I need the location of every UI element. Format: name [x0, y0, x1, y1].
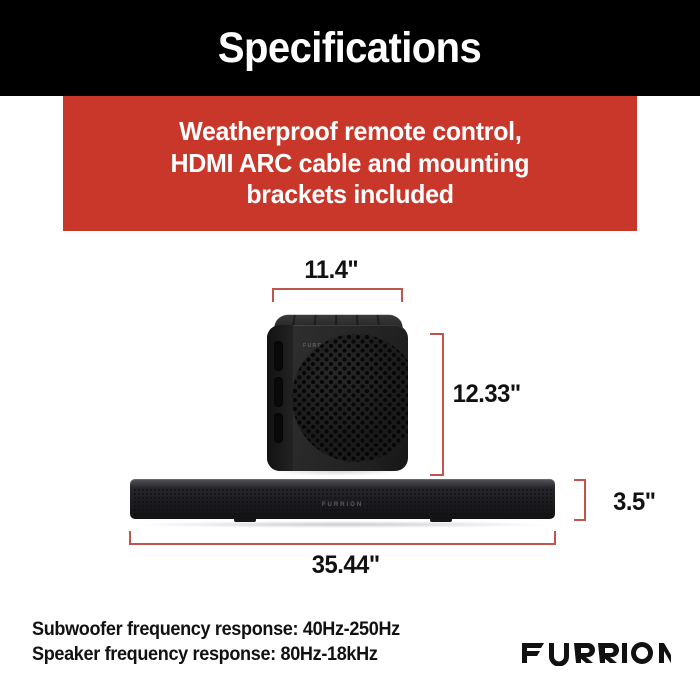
subwoofer-frequency-response: Subwoofer frequency response: 40Hz-250Hz: [32, 617, 400, 642]
frequency-response-specs: Subwoofer frequency response: 40Hz-250Hz…: [32, 617, 419, 667]
soundbar-brand-mark: FURRION: [322, 502, 363, 508]
subwoofer-vent-slot: [274, 413, 283, 443]
subwoofer-width-label: 11.4": [304, 256, 358, 285]
speaker-frequency-response: Speaker frequency response: 80Hz-18kHz: [32, 642, 400, 667]
subwoofer-speaker-grille: [292, 334, 408, 462]
subwoofer-vent-slot: [274, 341, 283, 371]
furrion-logo: [521, 640, 671, 666]
soundbar-width-label: 35.44": [312, 551, 380, 580]
subwoofer-product-image: FURRION: [267, 311, 408, 471]
feature-banner: Weatherproof remote control, HDMI ARC ca…: [63, 96, 637, 231]
soundbar-highlight: [130, 479, 555, 488]
subwoofer-width-bracket: [272, 288, 403, 302]
feature-banner-line-2: HDMI ARC cable and mounting: [171, 148, 530, 180]
subwoofer-height-label: 12.33": [453, 380, 521, 409]
soundbar-body: FURRION: [130, 479, 555, 519]
page-title: Specifications: [218, 27, 481, 70]
specifications-infographic: Specifications Weatherproof remote contr…: [0, 0, 700, 700]
feature-banner-line-1: Weatherproof remote control,: [179, 116, 521, 148]
soundbar-height-label: 3.5": [613, 488, 655, 517]
feature-banner-line-3: brackets included: [246, 179, 453, 211]
subwoofer-side-panel: [267, 325, 293, 471]
subwoofer-vent-slot: [274, 377, 283, 407]
soundbar-shadow: [136, 521, 549, 528]
title-band: Specifications: [0, 0, 700, 96]
soundbar-height-bracket: [574, 479, 586, 521]
subwoofer-body: FURRION: [267, 325, 408, 471]
soundbar-width-bracket: [129, 531, 556, 545]
soundbar-product-image: FURRION: [130, 479, 555, 522]
subwoofer-height-bracket: [430, 333, 444, 476]
